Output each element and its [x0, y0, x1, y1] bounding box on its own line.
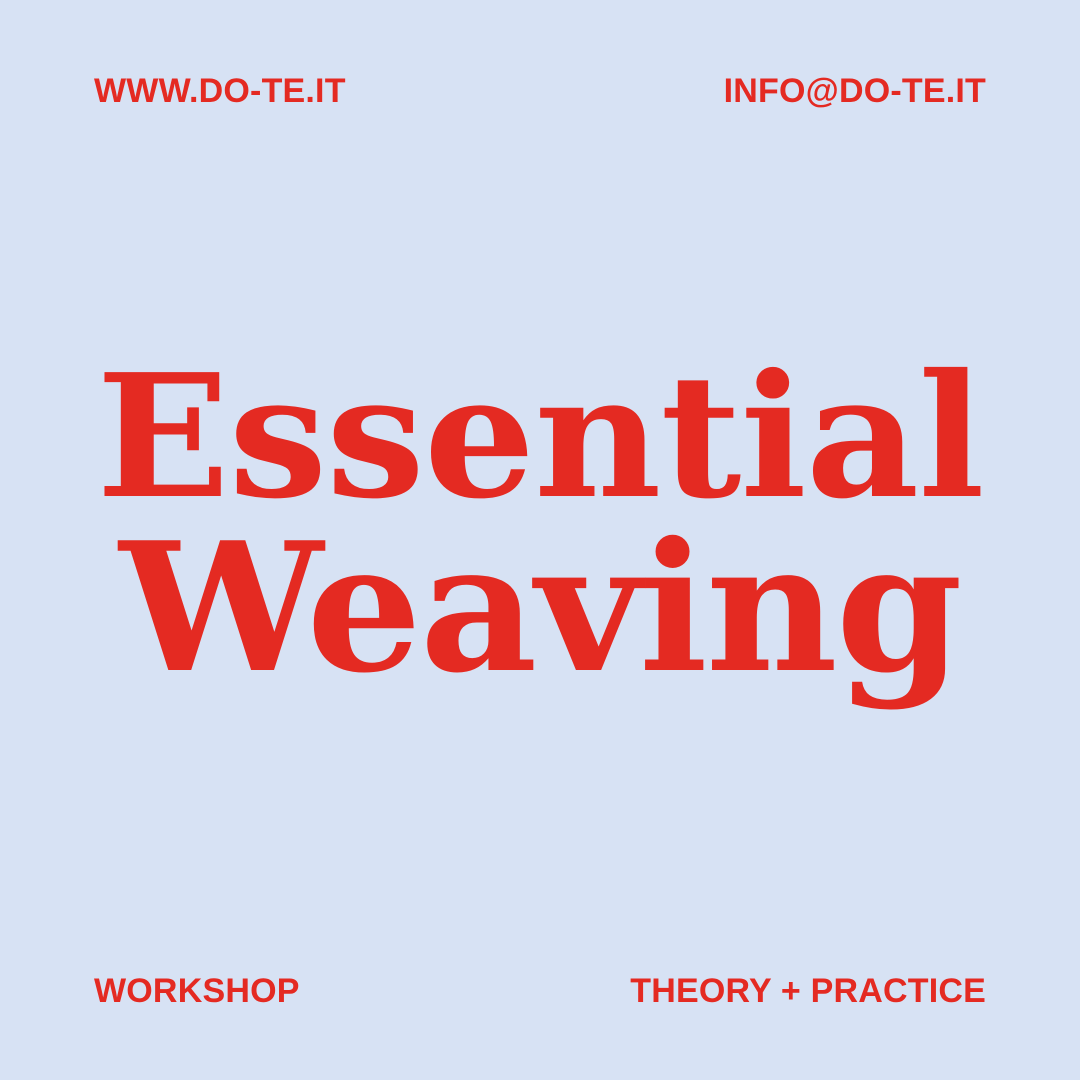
poster-canvas: WWW.DO-TE.IT INFO@DO-TE.IT Essential Wea…	[0, 0, 1080, 1080]
headline-block: Essential Weaving	[0, 352, 1080, 694]
event-type-label: WORKSHOP	[94, 974, 300, 1008]
website-url-label[interactable]: WWW.DO-TE.IT	[94, 74, 346, 108]
email-address-label[interactable]: INFO@DO-TE.IT	[724, 74, 986, 108]
headline-line-1: Essential	[0, 352, 1080, 522]
event-format-label: THEORY + PRACTICE	[630, 974, 986, 1008]
headline-line-2: Weaving	[0, 522, 1080, 694]
